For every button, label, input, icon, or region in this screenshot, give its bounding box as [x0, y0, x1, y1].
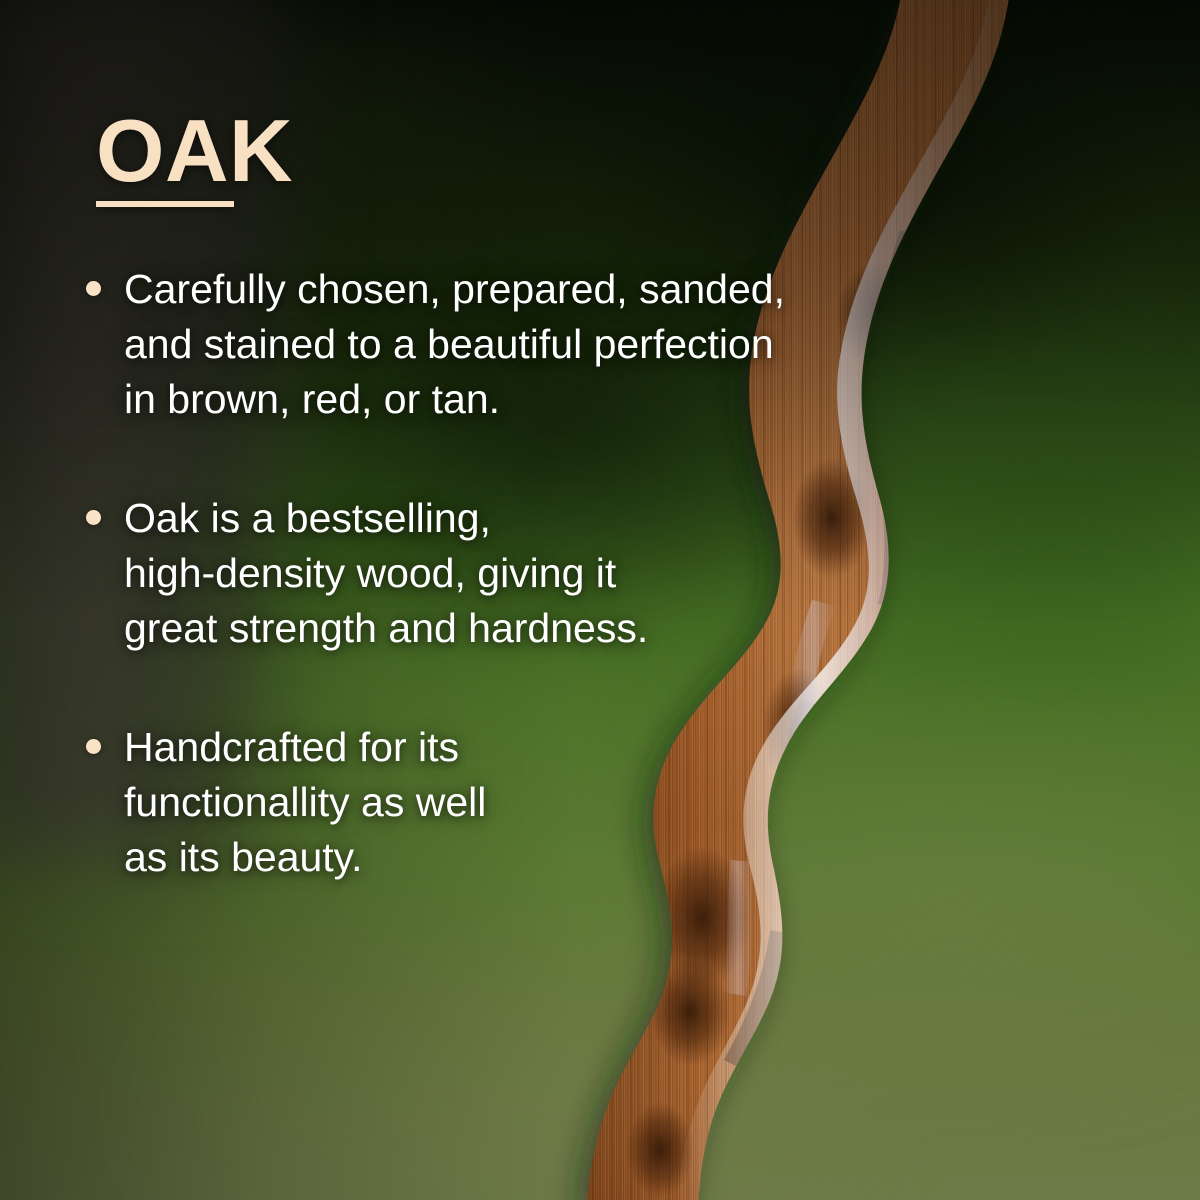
title-block: OAK [96, 112, 293, 207]
page-title: OAK [96, 112, 293, 189]
bullet-text: Carefully chosen, prepared, sanded, and … [124, 262, 844, 427]
title-underline-rule [96, 201, 234, 207]
list-item: Oak is a bestselling, high-density wood,… [84, 491, 844, 656]
bullet-text: Oak is a bestselling, high-density wood,… [124, 491, 844, 656]
list-item: Handcrafted for its functionallity as we… [84, 720, 844, 885]
bullet-dot-icon [86, 510, 101, 525]
bullet-dot-icon [86, 739, 101, 754]
bullet-dot-icon [86, 281, 101, 296]
bullet-text: Handcrafted for its functionallity as we… [124, 720, 844, 885]
feature-bullet-list: Carefully chosen, prepared, sanded, and … [84, 262, 844, 885]
list-item: Carefully chosen, prepared, sanded, and … [84, 262, 844, 427]
product-feature-card: OAK Carefully chosen, prepared, sanded, … [0, 0, 1200, 1200]
